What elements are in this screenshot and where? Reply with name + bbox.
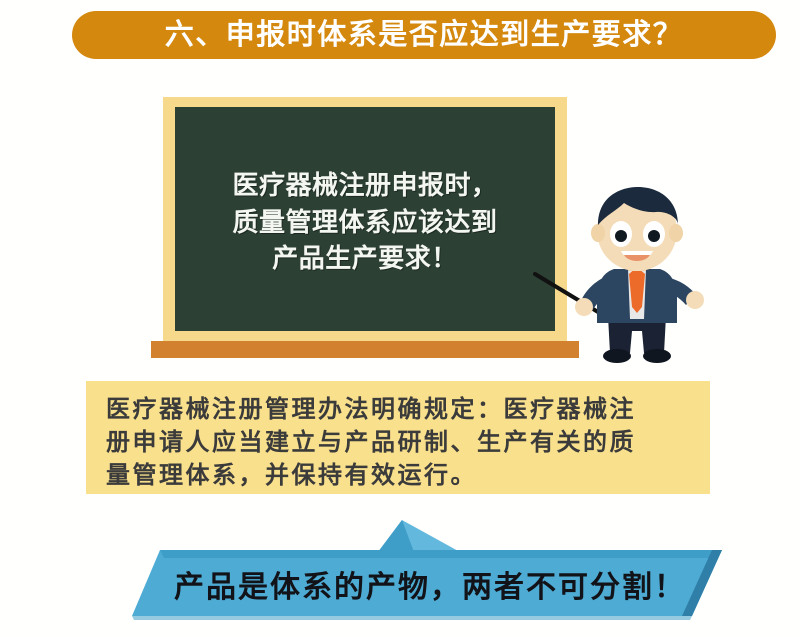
- ribbon-shape-icon: [130, 512, 730, 622]
- blackboard-line-2: 质量管理体系应该达到: [232, 204, 497, 241]
- note-box: 医疗器械注册管理办法明确规定：医疗器械注 册申请人应当建立与产品研制、生产有关的…: [86, 381, 710, 494]
- blackboard-frame: 医疗器械注册申报时， 质量管理体系应该达到 产品生产要求！: [163, 97, 567, 341]
- blackboard: 医疗器械注册申报时， 质量管理体系应该达到 产品生产要求！: [163, 97, 567, 341]
- note-line-1: 医疗器械注册管理办法明确规定：医疗器械注: [106, 393, 692, 426]
- chalk-tray: [151, 341, 579, 358]
- blackboard-surface: 医疗器械注册申报时， 质量管理体系应该达到 产品生产要求！: [175, 107, 555, 331]
- blackboard-line-1: 医疗器械注册申报时，: [232, 167, 497, 204]
- page-title: 六、申报时体系是否应达到生产要求？: [165, 21, 684, 50]
- note-line-3: 量管理体系，并保持有效运行。: [106, 459, 692, 492]
- teacher-character-icon: [562, 181, 712, 366]
- conclusion-ribbon: 产品是体系的产物，两者不可分割！: [130, 512, 730, 622]
- blackboard-line-3: 产品生产要求！: [272, 240, 458, 277]
- note-line-2: 册申请人应当建立与产品研制、生产有关的质: [106, 426, 692, 459]
- infographic-page: 六、申报时体系是否应达到生产要求？ 医疗器械注册申报时， 质量管理体系应该达到 …: [0, 0, 800, 637]
- title-banner: 六、申报时体系是否应达到生产要求？: [72, 11, 776, 59]
